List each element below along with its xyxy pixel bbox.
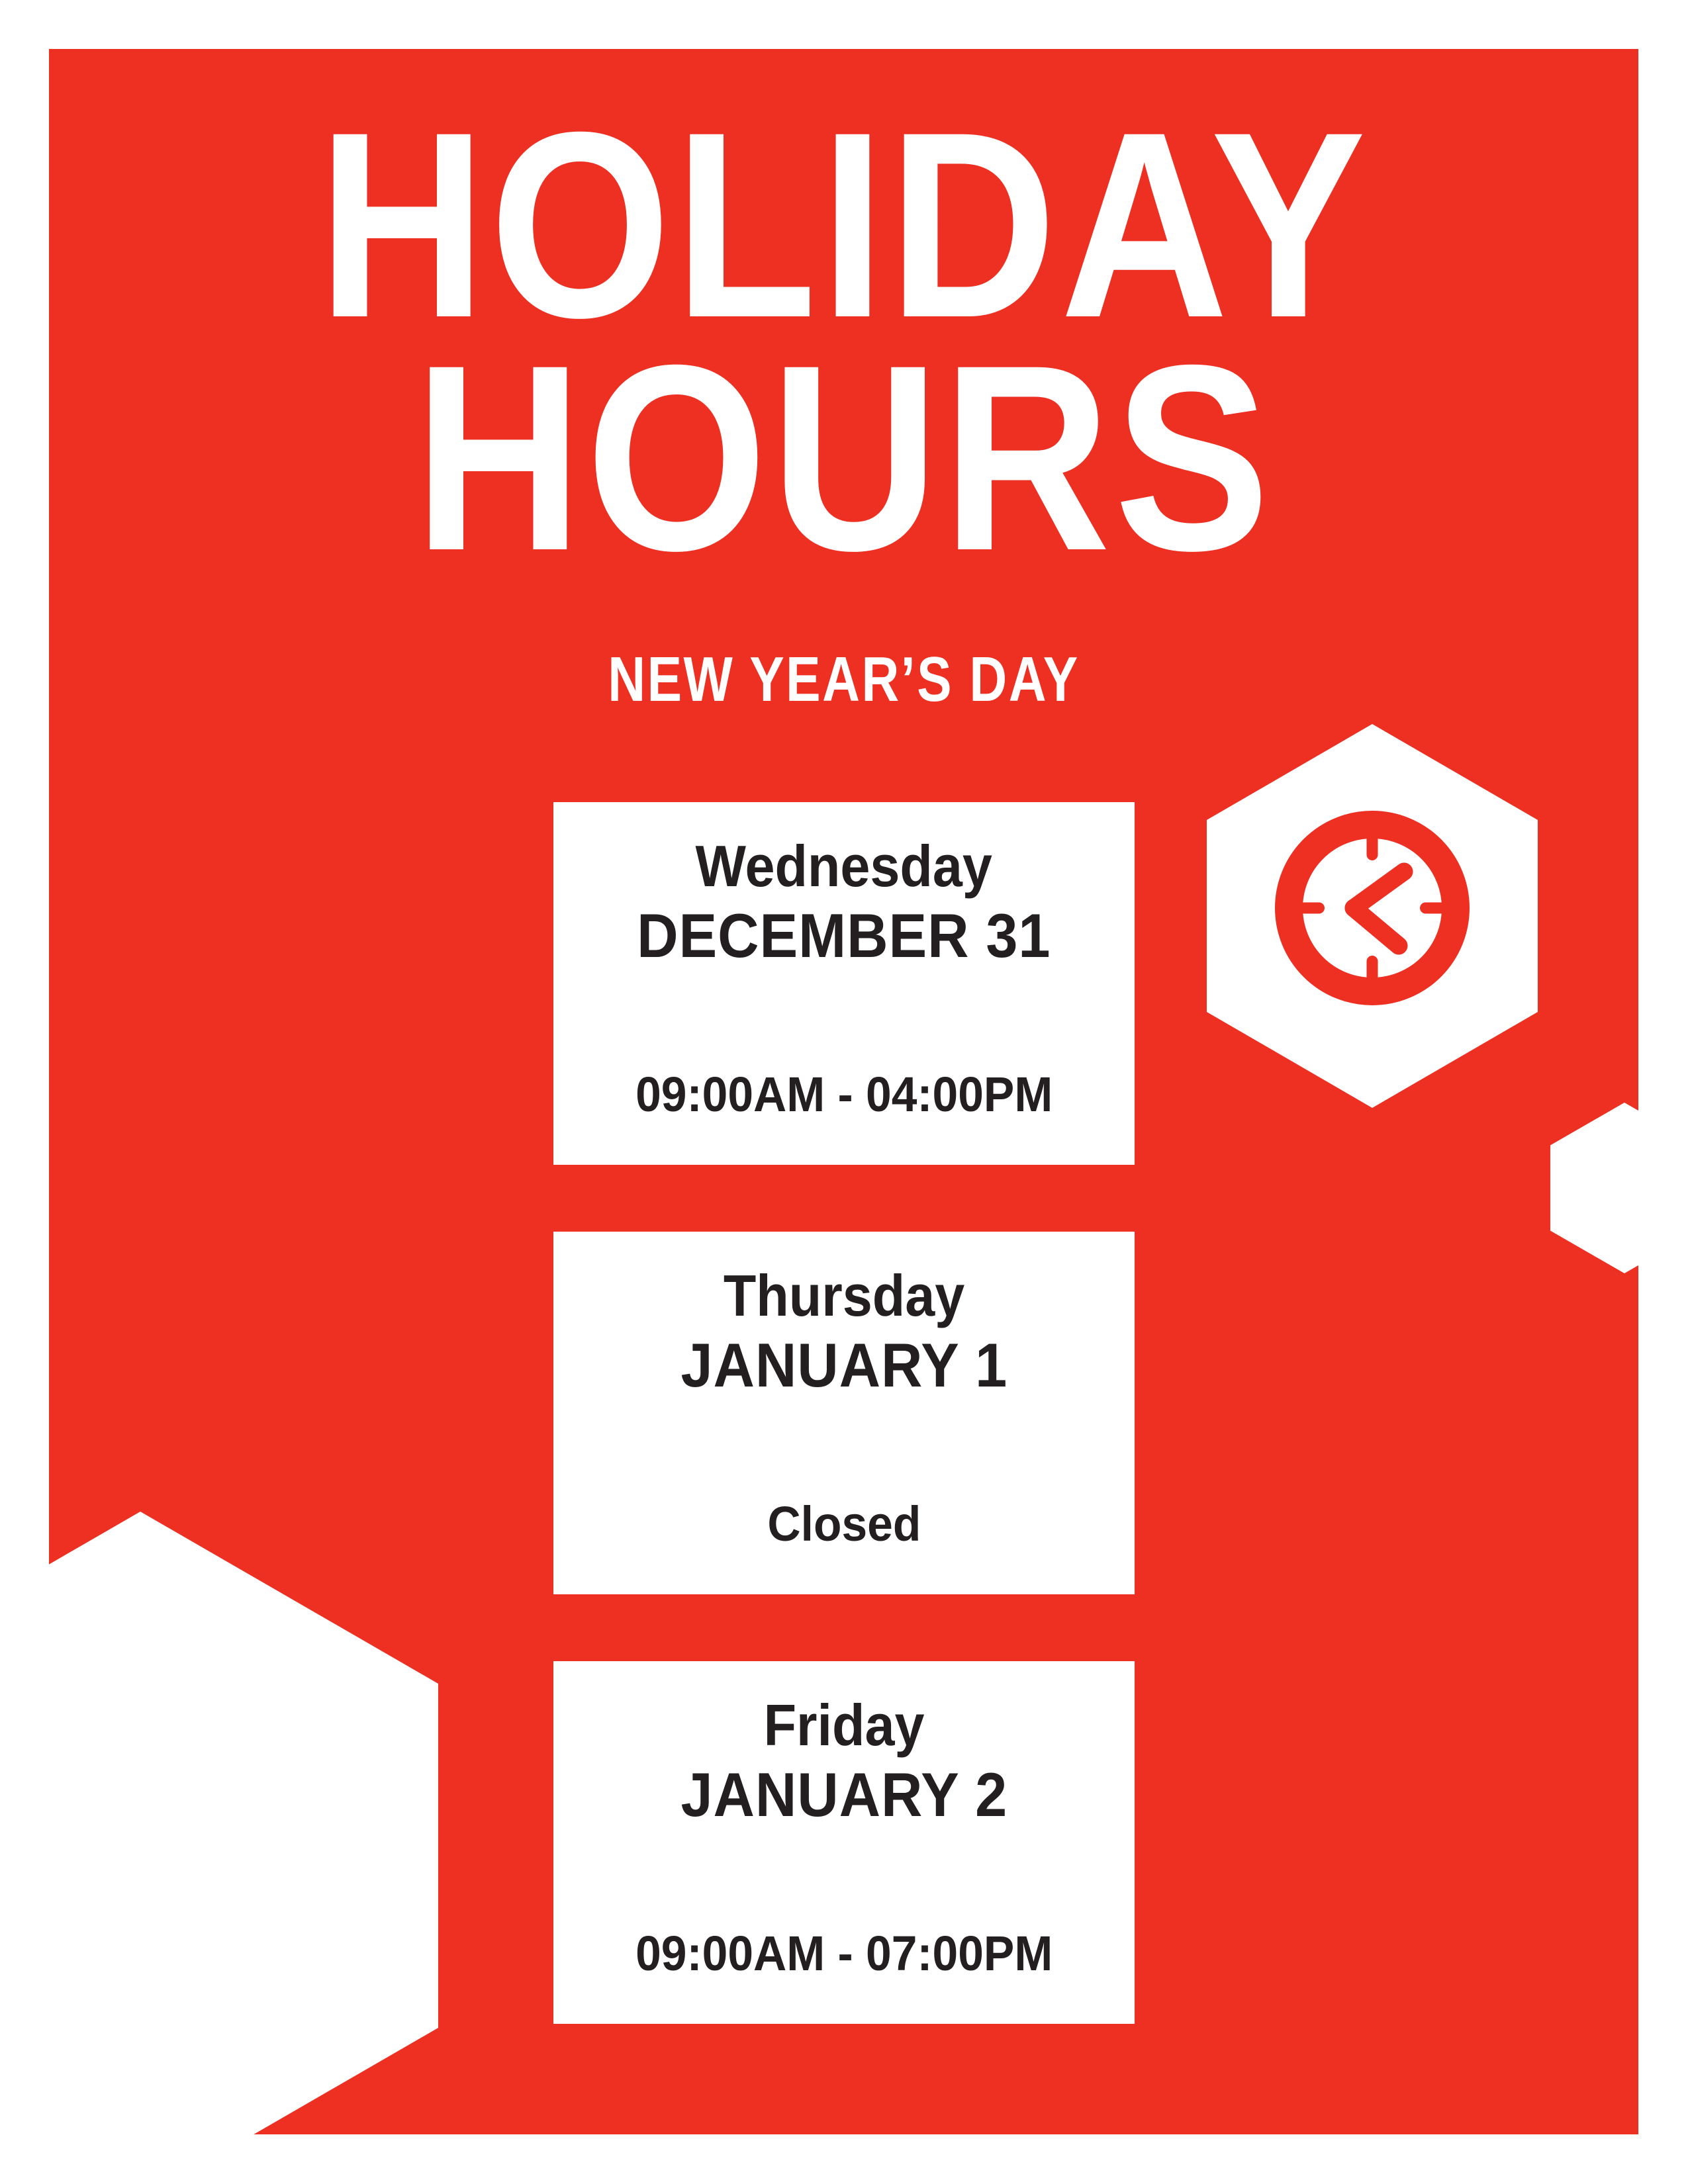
- card-date: JANUARY 1: [680, 1329, 1008, 1402]
- page-title: HOLIDAY HOURS: [49, 109, 1638, 574]
- schedule-list: Wednesday DECEMBER 31 09:00AM - 04:00PM …: [553, 802, 1135, 2024]
- holiday-hours-poster: HOLIDAY HOURS NEW YEAR’S DAY Wednesday D…: [0, 0, 1688, 2184]
- card-hours: 09:00AM - 04:00PM: [635, 1068, 1053, 1121]
- card-hours: 09:00AM - 07:00PM: [635, 1927, 1053, 1980]
- red-background-panel: HOLIDAY HOURS NEW YEAR’S DAY Wednesday D…: [49, 49, 1638, 2134]
- schedule-card: Friday JANUARY 2 09:00AM - 07:00PM: [553, 1661, 1135, 2024]
- clock-icon: [1274, 810, 1470, 1006]
- card-weekday: Friday: [764, 1693, 925, 1758]
- hexagon-accent: [1550, 1103, 1638, 1273]
- card-date: JANUARY 2: [680, 1758, 1008, 1832]
- card-hours: Closed: [767, 1497, 921, 1551]
- schedule-card: Wednesday DECEMBER 31 09:00AM - 04:00PM: [553, 802, 1135, 1165]
- title-line-hours: HOURS: [144, 341, 1543, 574]
- subtitle: NEW YEAR’S DAY: [192, 648, 1495, 711]
- card-weekday: Wednesday: [696, 834, 992, 899]
- card-date: DECEMBER 31: [637, 899, 1051, 973]
- title-line-holiday: HOLIDAY: [144, 109, 1543, 341]
- card-weekday: Thursday: [724, 1263, 964, 1329]
- hexagon-corner: [49, 1512, 438, 2134]
- schedule-card: Thursday JANUARY 1 Closed: [553, 1232, 1135, 1594]
